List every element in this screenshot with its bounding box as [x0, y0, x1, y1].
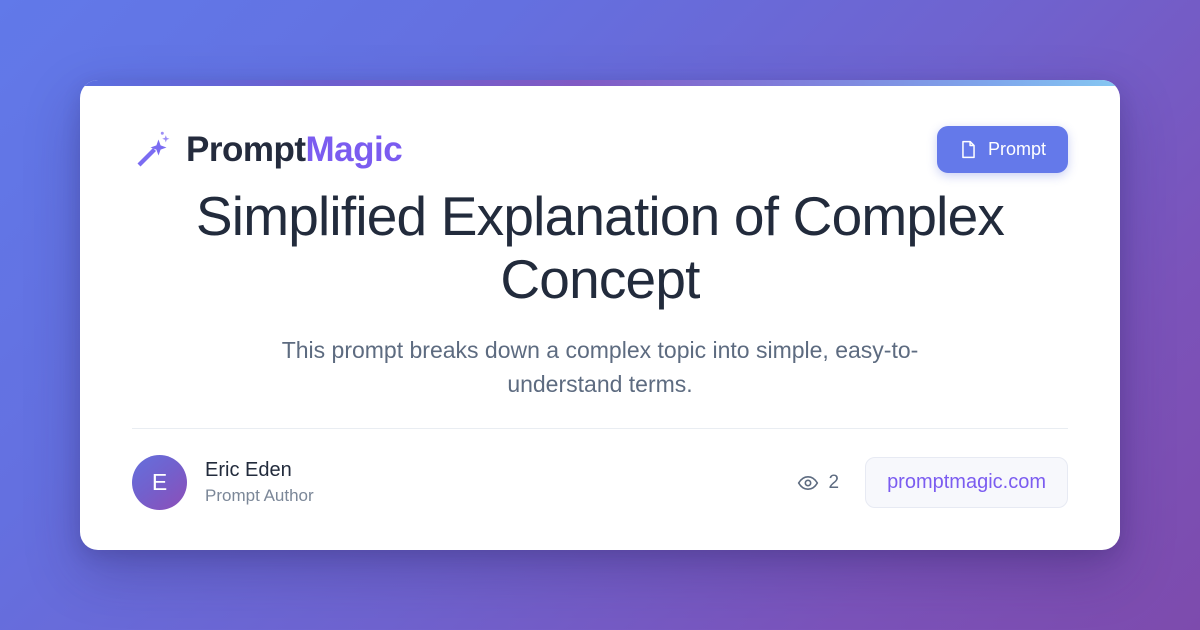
eye-icon [797, 472, 819, 494]
prompt-button-label: Prompt [988, 139, 1046, 160]
brand-name-accent: Magic [306, 130, 403, 169]
page-title: Simplified Explanation of Complex Concep… [132, 185, 1068, 310]
page-subtitle: This prompt breaks down a complex topic … [132, 334, 1068, 402]
avatar: E [132, 455, 187, 510]
brand-name-primary: Prompt [186, 130, 306, 169]
brand-logo[interactable]: PromptMagic [132, 130, 402, 170]
site-badge[interactable]: promptmagic.com [865, 457, 1068, 508]
view-count-value: 2 [828, 472, 839, 494]
file-document-icon [959, 140, 978, 159]
brand-name: PromptMagic [186, 132, 402, 167]
card-footer: E Eric Eden Prompt Author 2 promptmagic.… [132, 429, 1068, 550]
magic-wand-icon [132, 130, 172, 170]
prompt-button[interactable]: Prompt [937, 126, 1068, 173]
accent-gradient-strip [80, 80, 1120, 86]
view-count: 2 [797, 472, 839, 494]
author-name: Eric Eden [205, 457, 314, 483]
author-info: Eric Eden Prompt Author [205, 457, 314, 507]
prompt-share-card: PromptMagic Prompt Simplified Explanatio… [80, 80, 1120, 550]
author-role: Prompt Author [205, 485, 314, 507]
card-body: Simplified Explanation of Complex Concep… [132, 173, 1068, 418]
card-header: PromptMagic Prompt [132, 80, 1068, 173]
author-block: E Eric Eden Prompt Author [132, 455, 314, 510]
footer-meta: 2 promptmagic.com [797, 457, 1068, 508]
